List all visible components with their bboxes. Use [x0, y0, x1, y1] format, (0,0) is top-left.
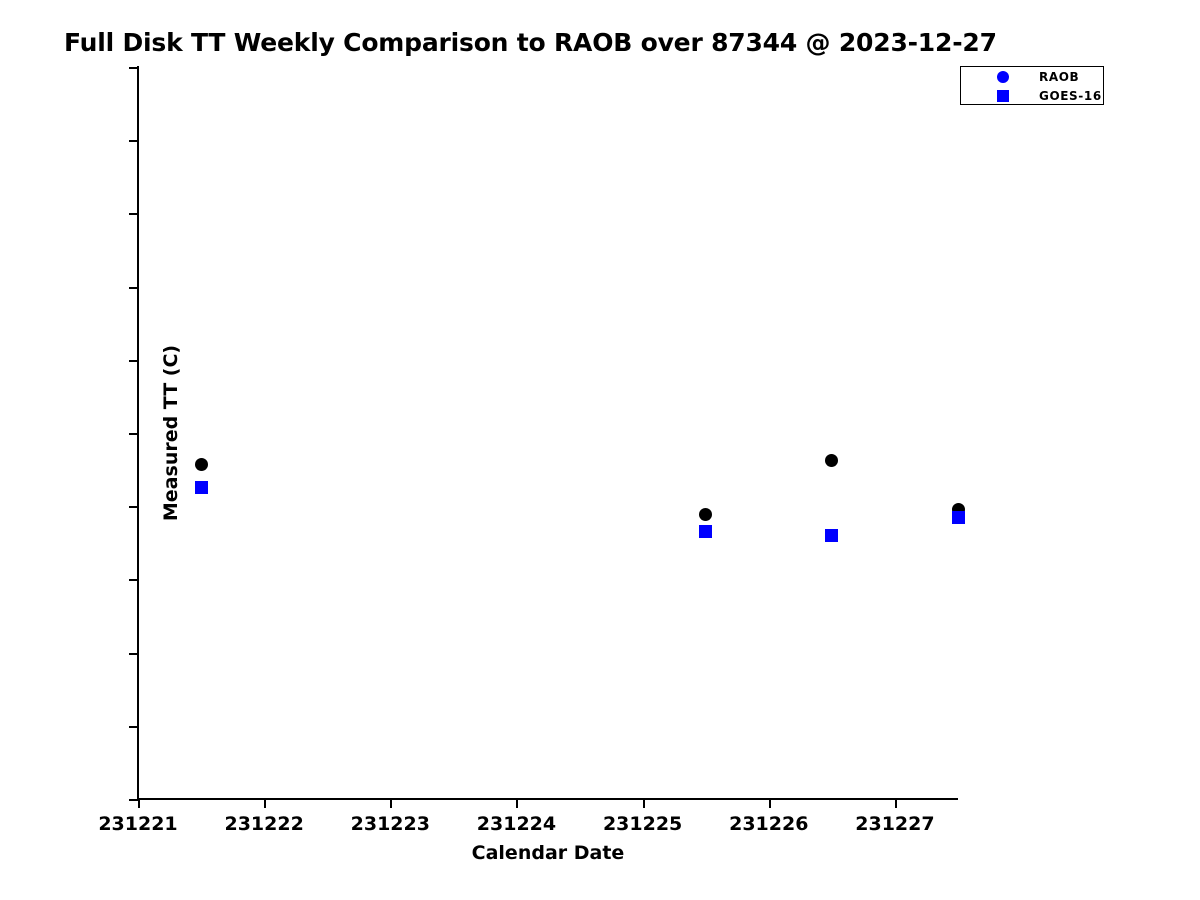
legend-item-raob[interactable]: RAOB — [961, 67, 1105, 86]
y-tick-mark — [129, 433, 138, 435]
x-tick-label: 231227 — [815, 813, 975, 835]
y-tick-mark — [129, 360, 138, 362]
legend-label: GOES-16 — [1039, 89, 1102, 103]
legend-label: RAOB — [1039, 70, 1079, 84]
circle-marker-icon — [993, 67, 1013, 86]
y-tick-mark — [129, 140, 138, 142]
data-point-goes-16 — [825, 529, 838, 542]
data-point-raob — [699, 508, 712, 521]
y-axis-label: Measured TT (C) — [160, 345, 182, 521]
plot-area: Measured TT (C) Calendar Date 0102030405… — [138, 67, 958, 799]
legend-item-goes-16[interactable]: GOES-16 — [961, 86, 1105, 105]
y-tick-mark — [129, 579, 138, 581]
y-tick-mark — [129, 213, 138, 215]
x-tick-mark — [516, 799, 518, 808]
data-point-goes-16 — [952, 511, 965, 524]
y-tick-mark — [129, 67, 138, 69]
x-tick-mark — [390, 799, 392, 808]
square-marker-icon — [993, 86, 1013, 105]
x-tick-mark — [769, 799, 771, 808]
data-point-raob — [825, 454, 838, 467]
y-tick-mark — [129, 653, 138, 655]
x-tick-mark — [643, 799, 645, 808]
x-tick-mark — [264, 799, 266, 808]
x-tick-mark — [138, 799, 140, 808]
y-tick-mark — [129, 799, 138, 801]
data-point-goes-16 — [699, 525, 712, 538]
legend: RAOBGOES-16 — [960, 66, 1104, 105]
data-point-goes-16 — [195, 481, 208, 494]
y-tick-mark — [129, 506, 138, 508]
page-title: Full Disk TT Weekly Comparison to RAOB o… — [64, 28, 997, 57]
x-tick-mark — [895, 799, 897, 808]
chart-page: Full Disk TT Weekly Comparison to RAOB o… — [0, 0, 1200, 900]
x-axis-label: Calendar Date — [138, 842, 958, 864]
y-tick-mark — [129, 287, 138, 289]
data-point-raob — [195, 458, 208, 471]
y-tick-mark — [129, 726, 138, 728]
